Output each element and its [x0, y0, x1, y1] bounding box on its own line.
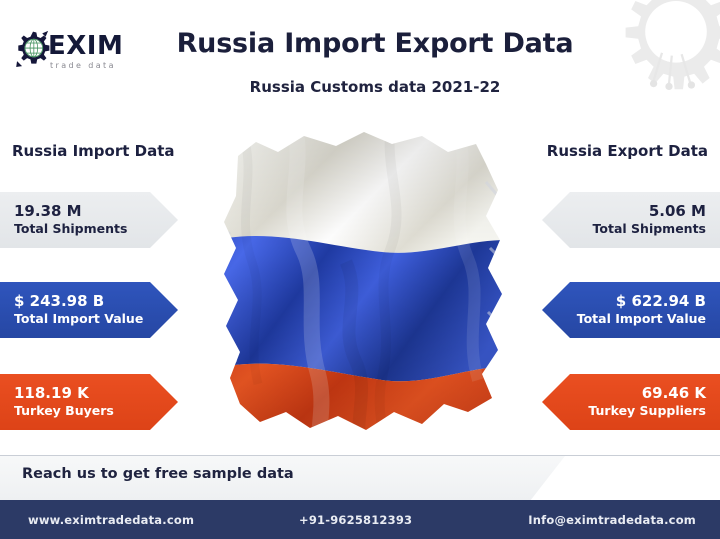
logo-tagline: trade data [50, 62, 123, 70]
logo[interactable]: EXIM trade data [12, 26, 152, 76]
infographic-canvas: EXIM trade data Russia Import Export Dat… [0, 0, 720, 539]
stat-value: 69.46 K [642, 384, 706, 403]
stat-value: 118.19 K [14, 384, 89, 403]
import-column-heading: Russia Import Data [12, 142, 174, 160]
stat-import-total-value: $ 243.98 B Total Import Value [0, 282, 178, 338]
stat-label: Turkey Buyers [14, 403, 114, 420]
stat-export-total-value: $ 622.94 B Total Import Value [542, 282, 720, 338]
stat-value: $ 622.94 B [616, 292, 706, 311]
globe-gear-icon [12, 30, 54, 72]
russia-flag-image [186, 112, 538, 464]
footer-email[interactable]: Info@eximtradedata.com [528, 513, 696, 527]
stat-label: Total Shipments [14, 221, 127, 238]
cta-text: Reach us to get free sample data [22, 466, 294, 482]
stat-import-total-shipments: 19.38 M Total Shipments [0, 192, 178, 248]
logo-wordmark: EXIM [48, 33, 123, 59]
stat-value: 5.06 M [649, 202, 706, 221]
page-subtitle: Russia Customs data 2021-22 [150, 78, 600, 96]
footer-contacts: www.eximtradedata.com +91-9625812393 Inf… [0, 500, 720, 539]
stat-label: Total Import Value [577, 311, 706, 328]
page-title: Russia Import Export Data [150, 28, 600, 59]
export-column-heading: Russia Export Data [547, 142, 708, 160]
footer-phone[interactable]: +91-9625812393 [299, 513, 412, 527]
stat-export-total-shipments: 5.06 M Total Shipments [542, 192, 720, 248]
footer-website[interactable]: www.eximtradedata.com [28, 513, 194, 527]
header: EXIM trade data Russia Import Export Dat… [0, 0, 720, 108]
stat-export-turkey-suppliers: 69.46 K Turkey Suppliers [542, 374, 720, 430]
stat-value: $ 243.98 B [14, 292, 104, 311]
stat-value: 19.38 M [14, 202, 82, 221]
stat-label: Turkey Suppliers [588, 403, 706, 420]
stat-import-turkey-buyers: 118.19 K Turkey Buyers [0, 374, 178, 430]
stat-label: Total Import Value [14, 311, 143, 328]
stat-label: Total Shipments [593, 221, 706, 238]
